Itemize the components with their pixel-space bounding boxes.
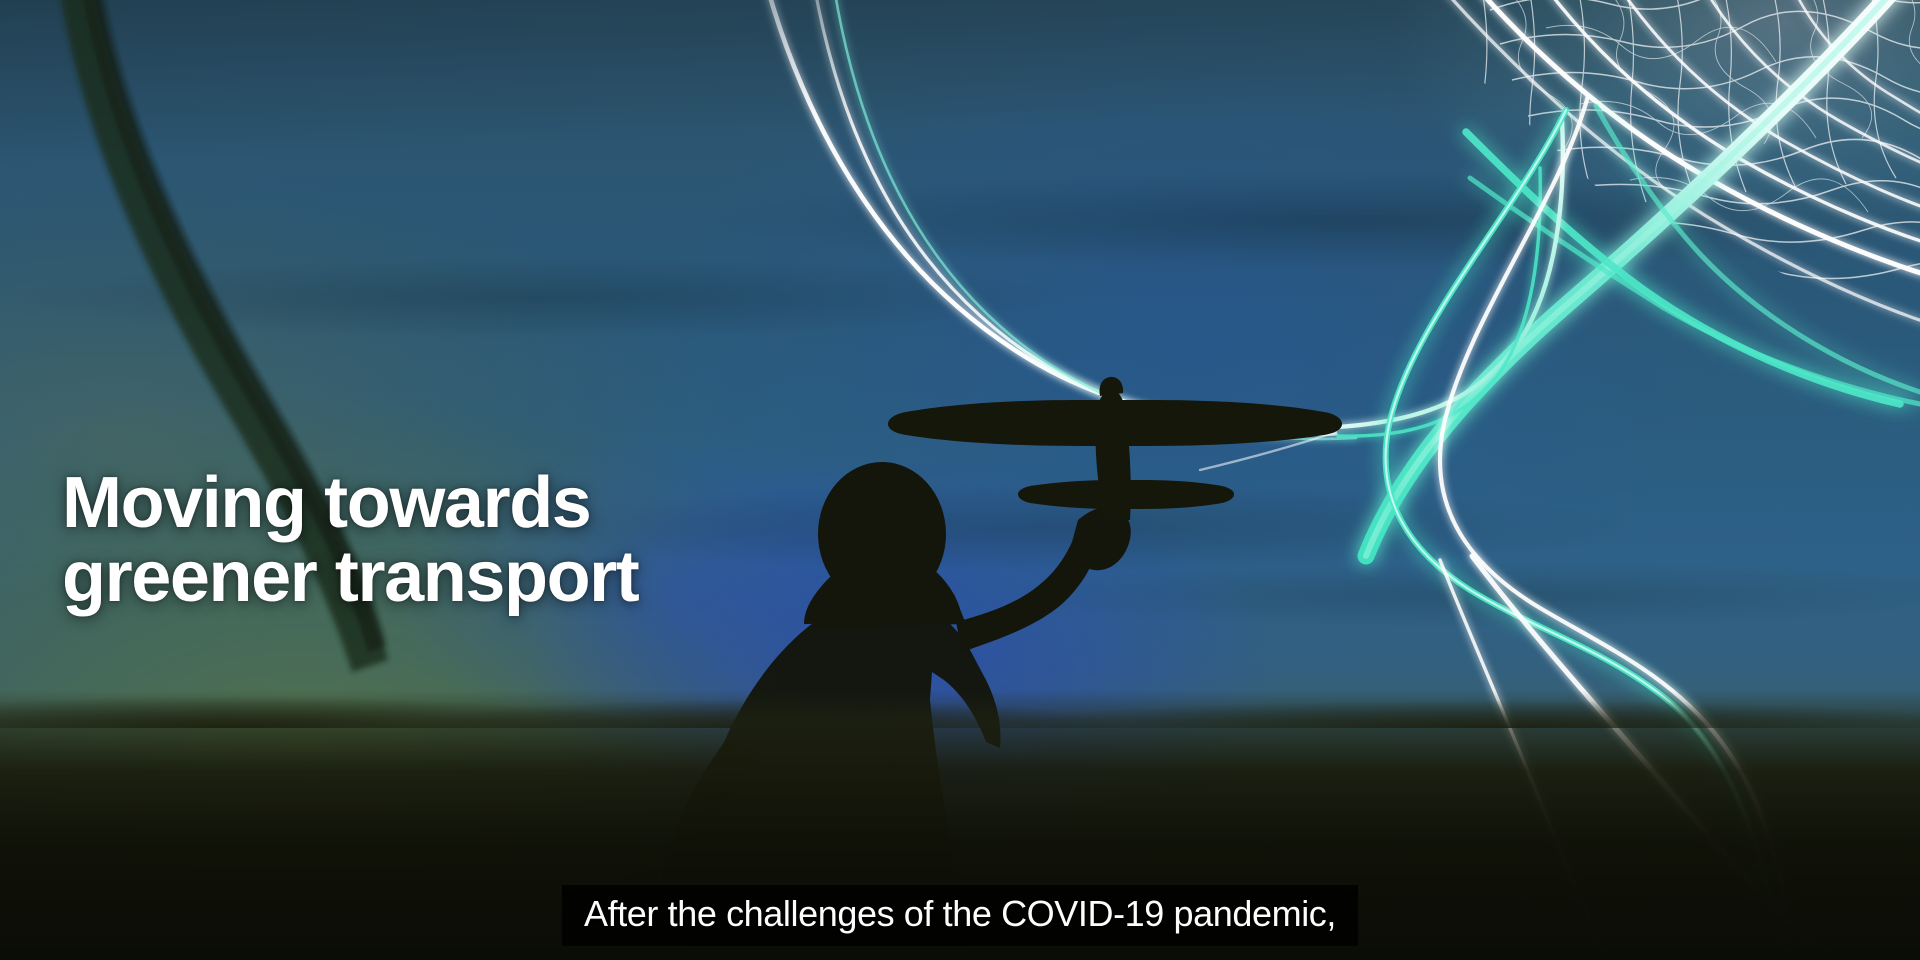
title-overlay: Moving towards greener transport [62, 466, 638, 614]
title-line-2: greener transport [62, 540, 638, 614]
toy-airplane-silhouette [888, 377, 1342, 520]
video-frame: Moving towards greener transport After t… [0, 0, 1920, 960]
caption-text: After the challenges of the COVID-19 pan… [584, 894, 1336, 934]
leaf-skeleton-graphic [1366, 0, 1920, 556]
caption-bar: After the challenges of the COVID-19 pan… [562, 885, 1358, 946]
title-line-1: Moving towards [62, 466, 638, 540]
